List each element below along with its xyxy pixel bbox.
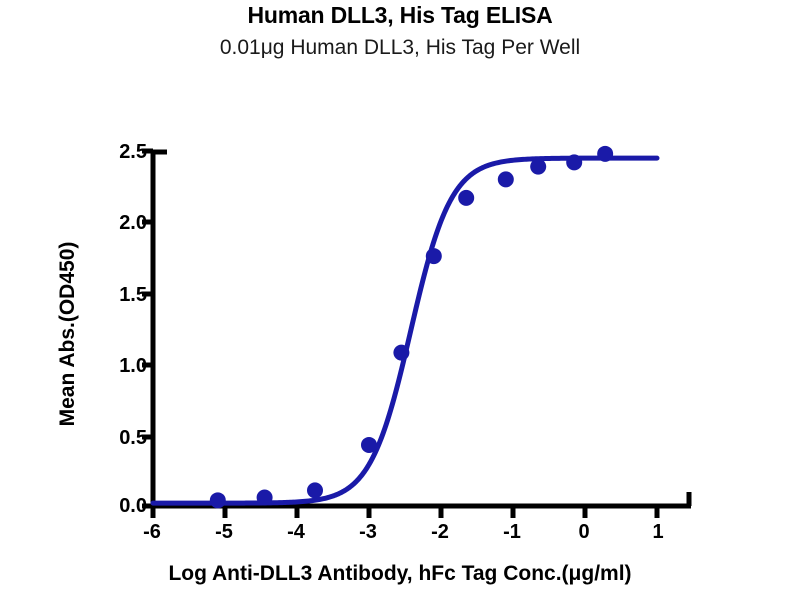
data-point	[257, 489, 273, 505]
axis-spines	[151, 151, 691, 506]
data-point	[307, 482, 323, 498]
data-point	[361, 437, 377, 453]
data-point	[210, 492, 226, 508]
data-point	[393, 345, 409, 361]
plot-area	[0, 0, 800, 600]
elisa-chart-figure: Human DLL3, His Tag ELISA 0.01μg Human D…	[0, 0, 800, 600]
data-point	[530, 159, 546, 175]
data-point	[597, 146, 613, 162]
sigmoid-fit-curve	[153, 158, 657, 503]
data-point	[498, 171, 514, 187]
data-point	[458, 190, 474, 206]
data-point	[566, 154, 582, 170]
data-point	[426, 248, 442, 264]
